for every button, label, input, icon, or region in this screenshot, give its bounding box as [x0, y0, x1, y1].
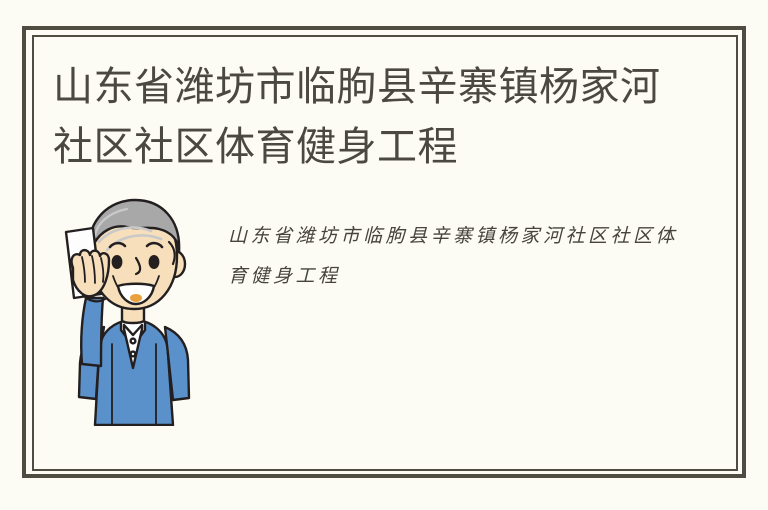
shirt-button-top [131, 339, 136, 344]
handwritten-caption: 山东省潍坊市临朐县辛寨镇杨家河社区社区体育健身工程 [228, 216, 698, 296]
tongue-shape [130, 294, 142, 302]
illustration-elderly-man-holding-phone [55, 194, 210, 426]
left-arm-raised-shape [81, 298, 103, 366]
content-area: 山东省潍坊市临朐县辛寨镇杨家河社区社区体育健身工程 [53, 188, 713, 446]
eye-right [149, 255, 160, 269]
page-title: 山东省潍坊市临朐县辛寨镇杨家河社区社区体育健身工程 [53, 57, 693, 177]
shirt-button-bottom [131, 352, 136, 357]
poster-canvas: 山东省潍坊市临朐县辛寨镇杨家河社区社区体育健身工程 [0, 0, 768, 510]
eye-left [112, 255, 123, 269]
